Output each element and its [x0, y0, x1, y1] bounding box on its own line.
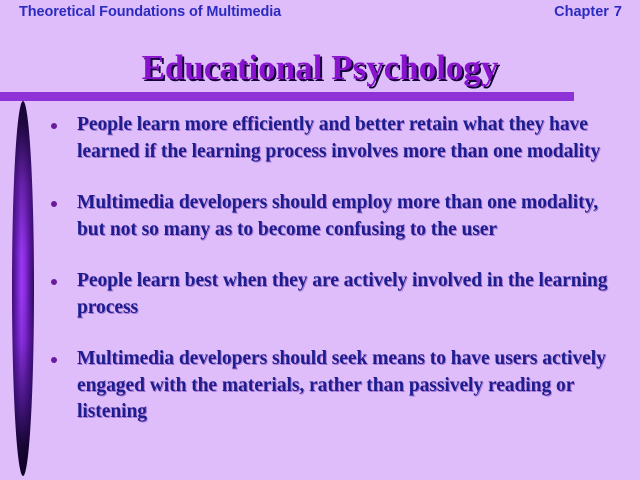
header-course-title: Theoretical Foundations of Multimedia	[19, 4, 281, 20]
slide-canvas: Theoretical Foundations of Multimedia Ch…	[0, 0, 640, 480]
bullet-dot-icon	[51, 279, 57, 285]
page-title: Educational Psychology	[0, 49, 640, 87]
bullet-dot-icon	[51, 123, 57, 129]
bullet-list: People learn more efficiently and better…	[0, 112, 640, 426]
list-item: People learn more efficiently and better…	[0, 112, 640, 165]
header-chapter: Chapter7	[554, 4, 622, 20]
list-item-text: Multimedia developers should employ more…	[77, 192, 598, 240]
bullet-dot-icon	[51, 357, 57, 363]
list-item: People learn best when they are actively…	[0, 268, 640, 321]
slide-header: Theoretical Foundations of Multimedia Ch…	[0, 4, 640, 24]
list-item: Multimedia developers should employ more…	[0, 190, 640, 243]
list-item-text: People learn best when they are actively…	[77, 270, 607, 318]
bullet-dot-icon	[51, 201, 57, 207]
list-item: Multimedia developers should seek means …	[0, 346, 640, 426]
header-chapter-number: 7	[614, 4, 622, 20]
list-item-text: People learn more efficiently and better…	[77, 114, 600, 162]
title-divider-bar	[0, 92, 574, 101]
list-item-text: Multimedia developers should seek means …	[77, 348, 606, 422]
header-chapter-label: Chapter	[554, 4, 609, 20]
